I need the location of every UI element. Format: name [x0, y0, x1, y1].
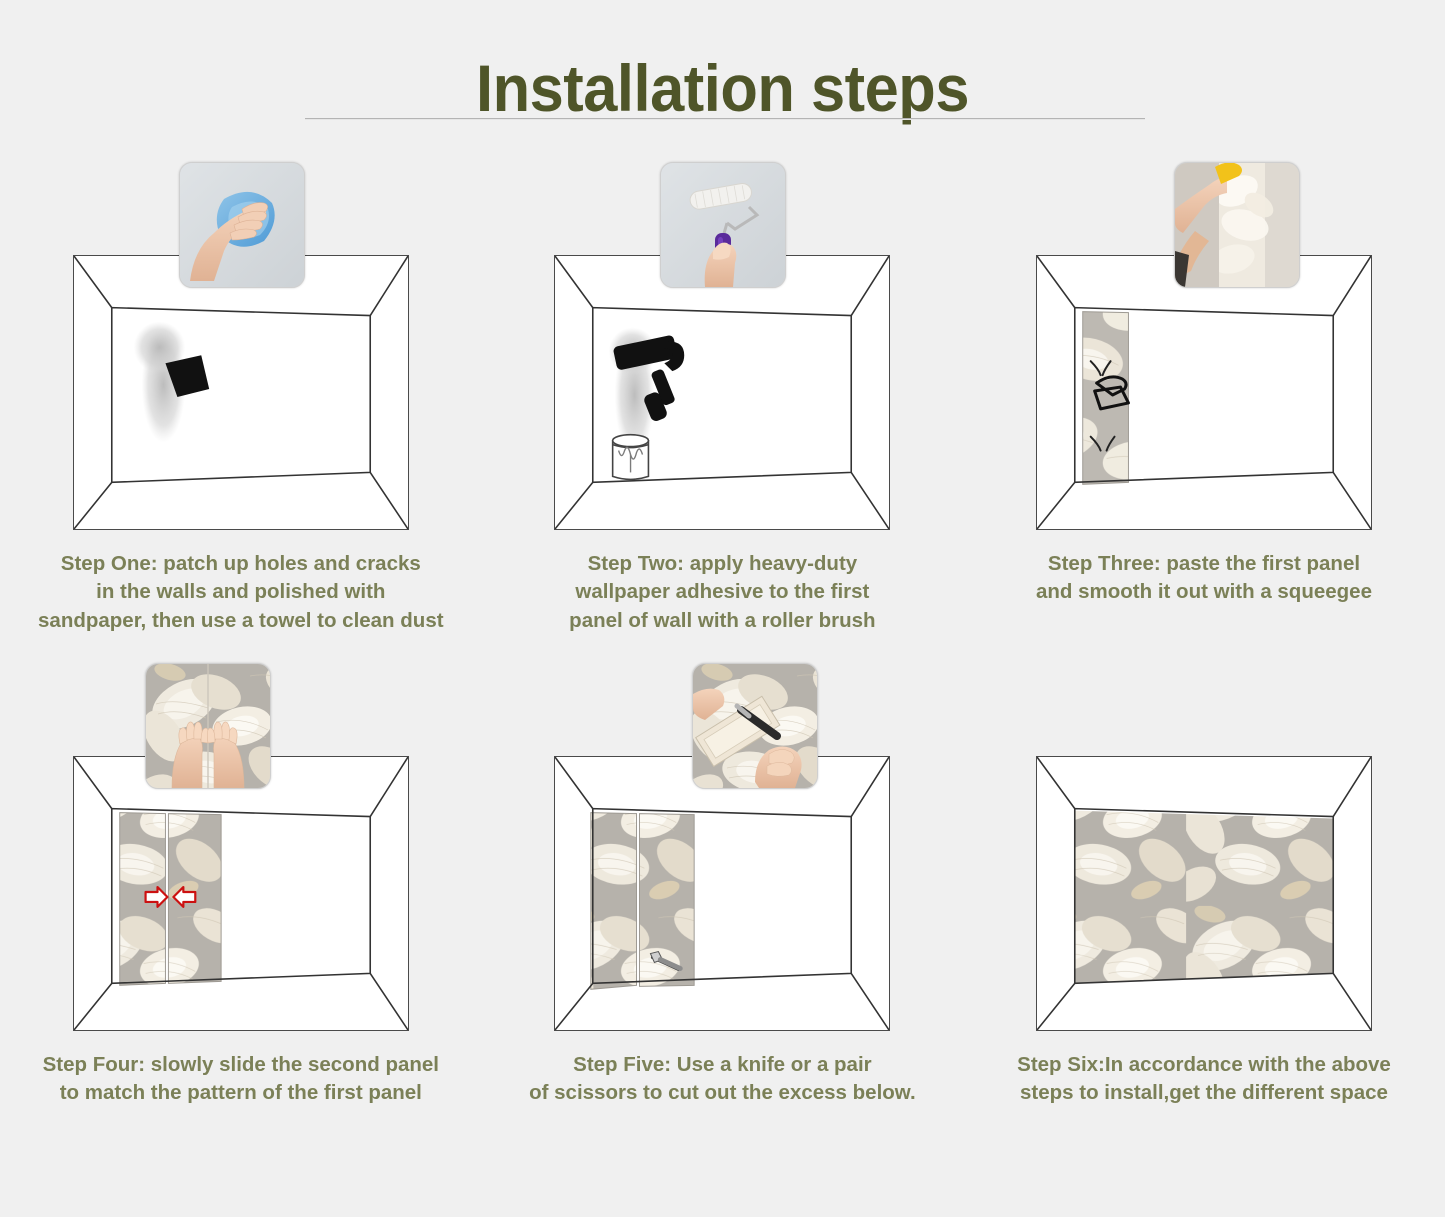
- title-divider: [305, 118, 1145, 119]
- page-title: Installation steps: [51, 50, 1395, 126]
- step-three-illustration: [963, 150, 1445, 550]
- step-five-illustration: [482, 651, 964, 1051]
- room-diagram-four: [73, 756, 409, 1031]
- inset-photo-smoothing-squeegee: [1174, 162, 1300, 288]
- inset-photo-hand-wiping-wall: [179, 162, 305, 288]
- room-diagram-six: [1036, 756, 1372, 1031]
- step-card-four: Step Four: slowly slide the second panel…: [0, 651, 482, 1108]
- step-one-illustration: [0, 150, 482, 550]
- step-card-five: Step Five: Use a knife or a pair of scis…: [482, 651, 964, 1108]
- step-five-caption: Step Five: Use a knife or a pair of scis…: [482, 1051, 964, 1108]
- step-six-illustration: [963, 651, 1445, 1051]
- room-diagram-one: [73, 255, 409, 530]
- infographic-page: Installation steps: [0, 0, 1445, 1217]
- step-four-illustration: [0, 651, 482, 1051]
- step-card-one: Step One: patch up holes and cracks in t…: [0, 150, 482, 635]
- inset-photo-cutting-with-knife: [692, 663, 818, 789]
- inset-photo-roller-on-wall: [660, 162, 786, 288]
- step-three-caption: Step Three: paste the first panel and sm…: [963, 550, 1445, 607]
- steps-row-2: Step Four: slowly slide the second panel…: [0, 651, 1445, 1108]
- wallpaper-panel-first: [1083, 312, 1129, 485]
- room-diagram-two: [554, 255, 890, 530]
- step-six-caption: Step Six:In accordance with the above st…: [963, 1051, 1445, 1108]
- room-diagram-three: [1036, 255, 1372, 530]
- inset-photo-aligning-panels: [145, 663, 271, 789]
- step-card-three: Step Three: paste the first panel and sm…: [963, 150, 1445, 635]
- step-two-caption: Step Two: apply heavy-duty wallpaper adh…: [482, 550, 964, 635]
- step-four-caption: Step Four: slowly slide the second panel…: [0, 1051, 482, 1108]
- steps-row-1: Step One: patch up holes and cracks in t…: [0, 150, 1445, 635]
- step-card-two: Step Two: apply heavy-duty wallpaper adh…: [482, 150, 964, 635]
- steps-grid: Step One: patch up holes and cracks in t…: [0, 150, 1445, 1107]
- step-two-illustration: [482, 150, 964, 550]
- wallpaper-panel-first: [591, 812, 637, 989]
- step-one-caption: Step One: patch up holes and cracks in t…: [0, 550, 482, 635]
- room-diagram-five: [554, 756, 890, 1031]
- wallpaper-full-wall: [1075, 810, 1333, 983]
- step-card-six: Step Six:In accordance with the above st…: [963, 651, 1445, 1108]
